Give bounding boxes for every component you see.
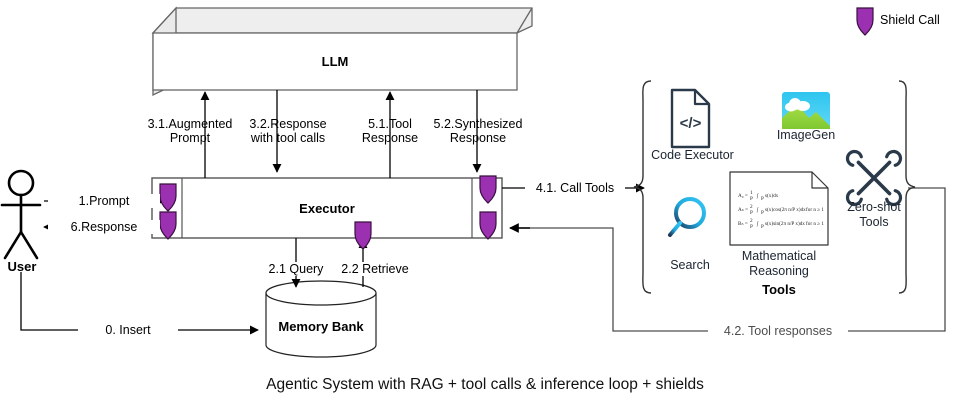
edge-label-line1: 3.1.Augmented	[148, 117, 233, 131]
edge-label-line1: 3.2.Response	[249, 117, 326, 131]
edge-label-augmented-prompt: 3.1.Augmented Prompt	[140, 117, 240, 145]
svg-text:for n ≥ 1: for n ≥ 1	[806, 206, 824, 213]
diagram-caption: Agentic System with RAG + tool calls & i…	[0, 376, 970, 394]
executor-label: Executor	[182, 201, 472, 216]
edge-label-prompt: 1.Prompt	[48, 194, 160, 208]
diagram-canvas: </> A₀ = 1P ∫Ps(x)dx Aₙ = 2P ∫Ps(x)cos(2…	[0, 0, 970, 411]
tools-right-brace	[899, 81, 915, 293]
svg-text:s(x)sin(2π n/P x)dx: s(x)sin(2π n/P x)dx	[765, 220, 805, 227]
crossed-wrenches-icon	[845, 149, 904, 208]
edge-label-line1: 5.2.Synthesized	[434, 117, 523, 131]
memory-bank-label: Memory Bank	[266, 319, 376, 334]
tool-label-search: Search	[655, 258, 725, 273]
svg-text:P: P	[750, 210, 753, 216]
edge-label-line2: with tool calls	[251, 131, 325, 145]
svg-text:s(x)dx: s(x)dx	[765, 192, 779, 199]
magnifier-icon	[670, 199, 704, 235]
svg-text:Bₙ =: Bₙ =	[738, 221, 748, 227]
edge-label-response-tool-calls: 3.2.Response with tool calls	[233, 117, 343, 145]
svg-text:Aₙ =: Aₙ =	[738, 207, 748, 213]
code-document-icon: </>	[672, 90, 709, 147]
edge-label-query: 2.1 Query	[256, 262, 336, 276]
svg-text:P: P	[750, 224, 753, 230]
svg-text:s(x)cos(2π n/P x)dx: s(x)cos(2π n/P x)dx	[765, 206, 806, 213]
tool-label-zero-shot-tools: Zero-shot Tools	[838, 200, 910, 230]
tool-label-text: Mathematical Reasoning	[742, 249, 816, 278]
svg-text:</>: </>	[680, 115, 702, 132]
edge-insert	[21, 272, 258, 330]
shield-icon	[355, 222, 371, 249]
edge-label-retrieve: 2.2 Retrieve	[330, 262, 420, 276]
svg-text:P: P	[761, 224, 764, 230]
llm-label: LLM	[153, 54, 517, 69]
edge-label-tool-responses: 4.2. Tool responses	[708, 324, 848, 338]
edge-label-line1: 5.1.Tool	[368, 117, 412, 131]
edge-label-call-tools: 4.1. Call Tools	[525, 181, 625, 195]
tool-label-mathematical-reasoning: Mathematical Reasoning	[722, 249, 836, 279]
legend-shield-icon	[857, 8, 873, 35]
user-label: User	[0, 259, 44, 274]
svg-text:P: P	[750, 196, 753, 202]
legend-label: Shield Call	[880, 13, 960, 27]
svg-text:for n ≥ 1: for n ≥ 1	[806, 220, 824, 227]
svg-text:P: P	[761, 210, 764, 216]
tool-label-imagegen: ImageGen	[766, 128, 846, 143]
edge-label-synthesized-response: 5.2.Synthesized Response	[424, 117, 532, 145]
llm-node	[153, 8, 532, 95]
tool-label-text: Zero-shot Tools	[847, 200, 901, 229]
edge-label-line2: Response	[362, 131, 418, 145]
edge-label-tool-response: 5.1.Tool Response	[345, 117, 435, 145]
edge-label-line2: Prompt	[170, 131, 210, 145]
tool-label-code-executor: Code Executor	[645, 148, 740, 163]
math-document-icon: A₀ = 1P ∫Ps(x)dx Aₙ = 2P ∫Ps(x)cos(2π n/…	[730, 172, 828, 245]
edge-label-response: 6.Response	[48, 220, 160, 234]
tools-left-brace	[634, 81, 651, 293]
user-node	[2, 171, 40, 258]
svg-text:A₀ =: A₀ =	[738, 193, 748, 199]
tools-group-label: Tools	[714, 282, 844, 297]
edge-label-insert: 0. Insert	[78, 323, 178, 337]
image-icon	[782, 92, 830, 129]
svg-text:P: P	[761, 196, 764, 202]
edge-label-line2: Response	[450, 131, 506, 145]
